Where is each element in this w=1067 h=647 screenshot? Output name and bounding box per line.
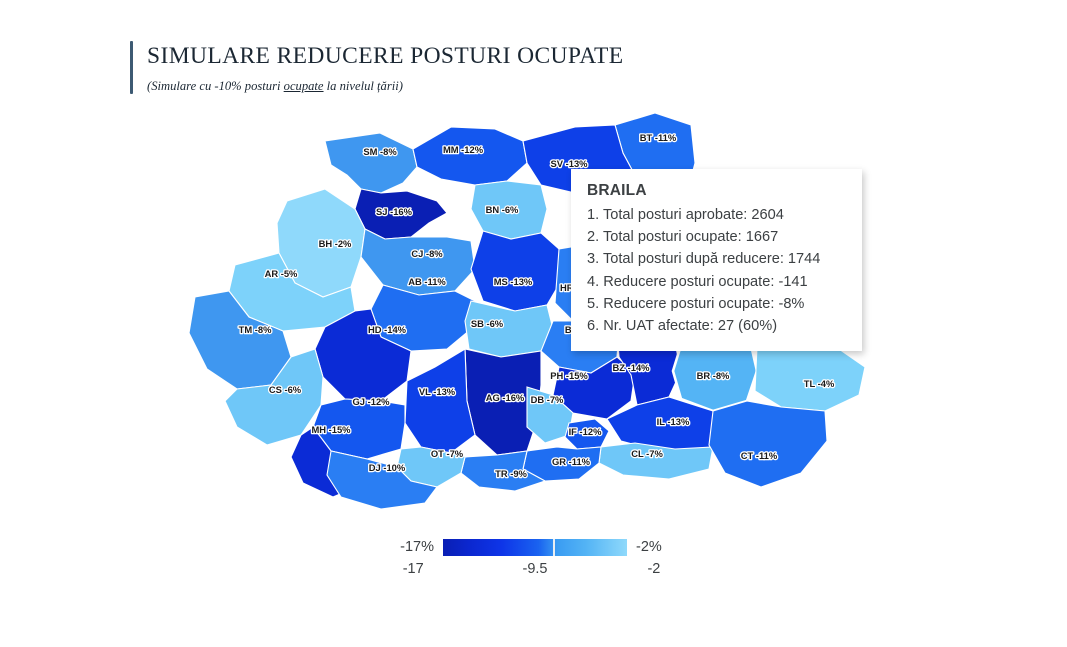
tooltip-line-4: 4. Reducere posturi ocupate: -141 xyxy=(587,271,846,293)
tooltip-line-5: 5. Reducere posturi ocupate: -8% xyxy=(587,293,846,315)
legend-gradient-bar[interactable] xyxy=(443,539,627,556)
map-page: SIMULARE REDUCERE POSTURI OCUPATE (Simul… xyxy=(0,0,1067,647)
county-sb[interactable] xyxy=(465,301,553,357)
county-vl[interactable] xyxy=(405,349,475,453)
county-sm[interactable] xyxy=(325,133,417,193)
tooltip-line-2: 2. Total posturi ocupate: 1667 xyxy=(587,226,846,248)
county-if[interactable] xyxy=(565,419,609,449)
header-text: SIMULARE REDUCERE POSTURI OCUPATE (Simul… xyxy=(147,41,624,94)
legend-gradient-marker xyxy=(553,539,555,556)
county-ct[interactable] xyxy=(709,401,827,487)
legend-max-label: -2% xyxy=(636,539,680,555)
header: SIMULARE REDUCERE POSTURI OCUPATE (Simul… xyxy=(130,41,624,94)
tooltip-line-3: 3. Total posturi după reducere: 1744 xyxy=(587,248,846,270)
legend-tick-1: -9.5 xyxy=(523,561,548,577)
county-bn[interactable] xyxy=(471,181,547,239)
county-cl[interactable] xyxy=(599,443,713,479)
tooltip-lines: 1. Total posturi aprobate: 26042. Total … xyxy=(587,204,846,337)
subtitle-pre: (Simulare cu -10% posturi xyxy=(147,79,284,93)
legend-tick-labels: -17-9.5-2 xyxy=(390,561,680,583)
legend-min-label: -17% xyxy=(390,539,434,555)
county-cj[interactable] xyxy=(361,229,475,295)
county-mm[interactable] xyxy=(413,127,527,185)
legend-tick-2: -2 xyxy=(647,561,660,577)
county-tooltip: BRAILA 1. Total posturi aprobate: 26042.… xyxy=(571,169,862,351)
page-subtitle: (Simulare cu -10% posturi ocupate la niv… xyxy=(147,79,624,94)
legend-tick-0: -17 xyxy=(403,561,424,577)
tooltip-line-1: 1. Total posturi aprobate: 2604 xyxy=(587,204,846,226)
county-ms[interactable] xyxy=(471,231,561,311)
subtitle-underlined-word: ocupate xyxy=(284,79,324,93)
page-title: SIMULARE REDUCERE POSTURI OCUPATE xyxy=(147,42,624,70)
header-accent-bar xyxy=(130,41,133,94)
tooltip-line-6: 6. Nr. UAT afectate: 27 (60%) xyxy=(587,315,846,337)
subtitle-post: la nivelul țării) xyxy=(324,79,403,93)
legend-gradient-row: -17% -2% xyxy=(390,536,680,558)
color-legend: -17% -2% -17-9.5-2 xyxy=(390,536,680,582)
tooltip-title: BRAILA xyxy=(587,182,846,200)
